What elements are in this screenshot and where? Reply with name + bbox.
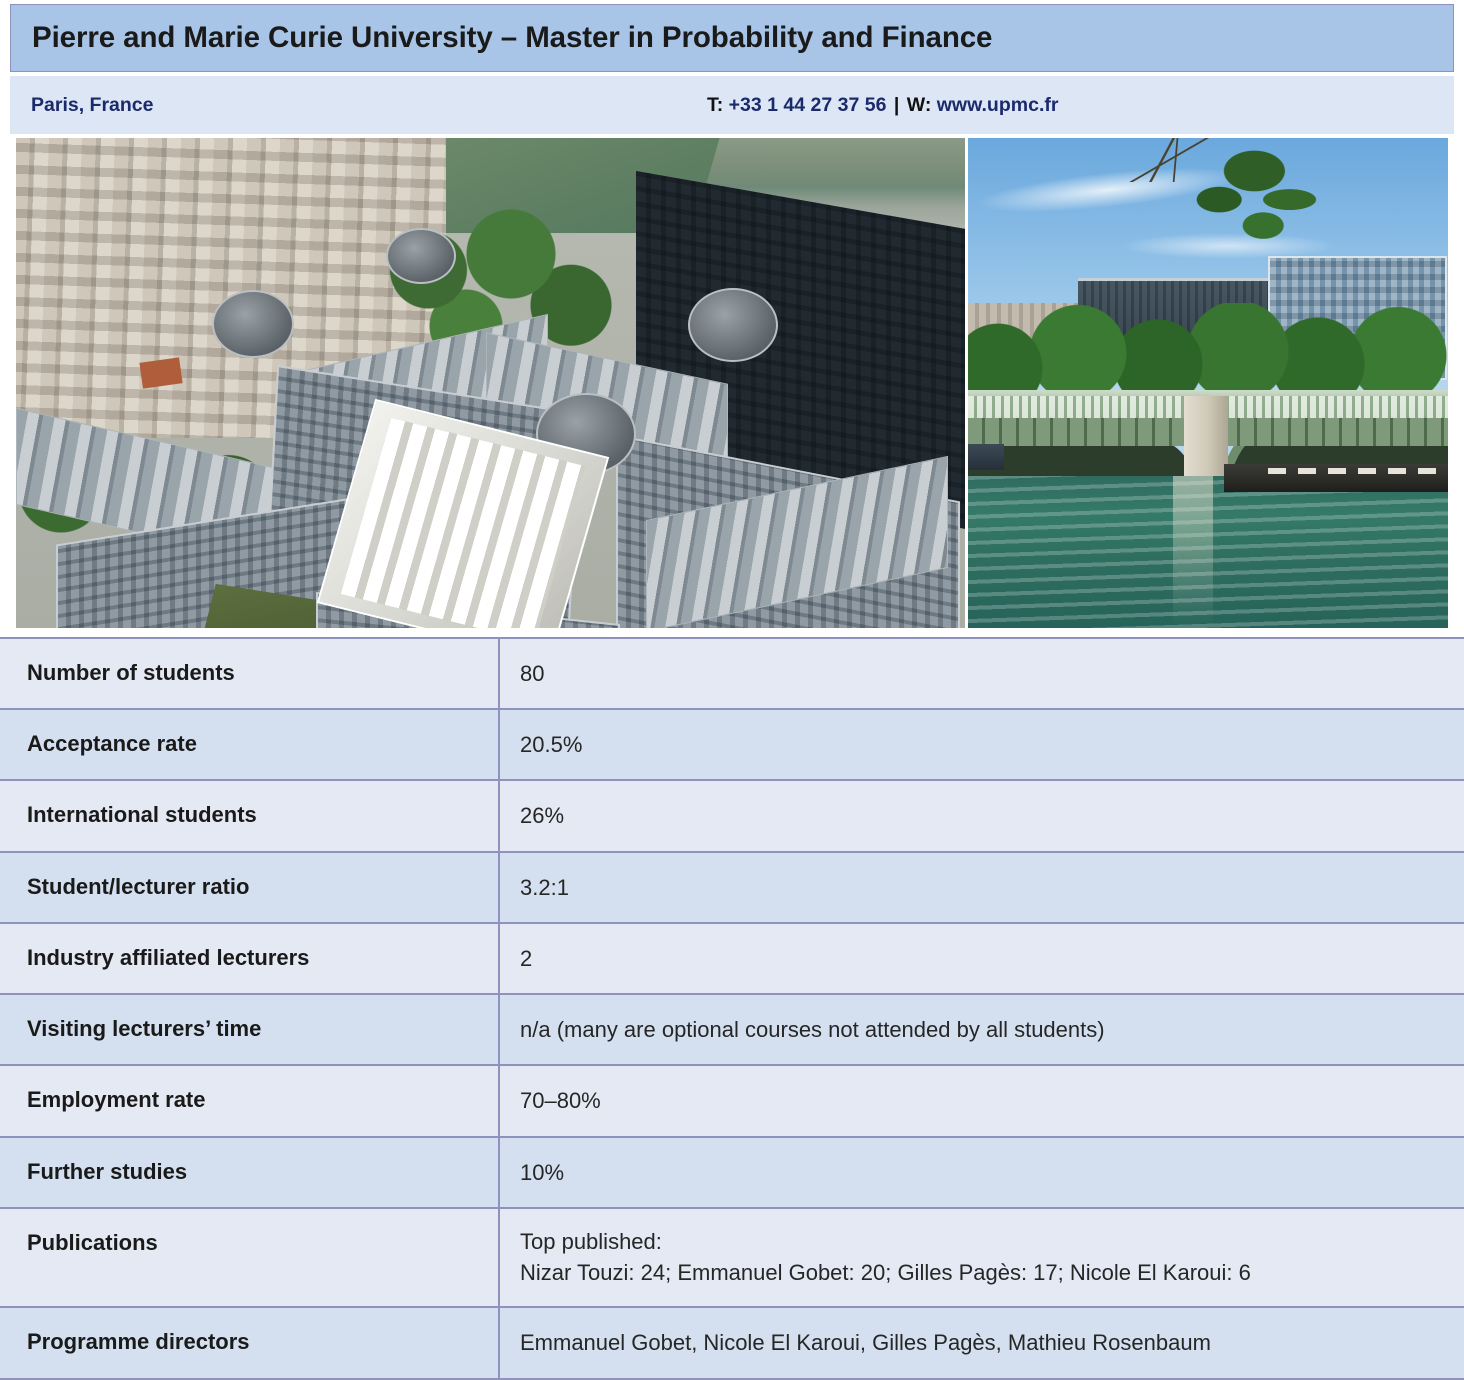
rooftop-cylinder	[688, 288, 778, 362]
table-row: Employment rate 70–80%	[0, 1064, 1464, 1135]
row-value: 80	[500, 639, 1464, 708]
page-title: Pierre and Marie Curie University – Mast…	[11, 21, 992, 55]
table-row: Visiting lecturers’ time n/a (many are o…	[0, 993, 1464, 1064]
contact-separator: |	[892, 94, 901, 116]
row-label: Student/lecturer ratio	[0, 853, 500, 922]
table-row: Number of students 80	[0, 637, 1464, 708]
red-roof-icon	[139, 357, 182, 388]
row-value: 2	[500, 924, 1464, 993]
row-label: Industry affiliated lecturers	[0, 924, 500, 993]
row-label: Visiting lecturers’ time	[0, 995, 500, 1064]
row-value: 26%	[500, 781, 1464, 850]
row-label: Further studies	[0, 1138, 500, 1207]
aerial-photo-art	[16, 138, 965, 628]
location-text: Paris, France	[31, 94, 153, 117]
row-label: Programme directors	[0, 1308, 500, 1377]
row-label: Employment rate	[0, 1066, 500, 1135]
website-link[interactable]: www.upmc.fr	[937, 94, 1059, 116]
website-label: W:	[907, 94, 932, 116]
row-label: Acceptance rate	[0, 710, 500, 779]
row-value: 3.2:1	[500, 853, 1464, 922]
table-row: International students 26%	[0, 779, 1464, 850]
title-bar: Pierre and Marie Curie University – Mast…	[10, 4, 1454, 72]
table-row: Further studies 10%	[0, 1136, 1464, 1207]
row-value: 10%	[500, 1138, 1464, 1207]
contact-info: T: +33 1 44 27 37 56 | W: www.upmc.fr	[707, 94, 1058, 117]
small-boat	[968, 444, 1004, 470]
barge-deck-markings	[1268, 468, 1448, 474]
subheader-bar: Paris, France T: +33 1 44 27 37 56 | W: …	[10, 76, 1454, 134]
rooftop-units	[341, 418, 585, 628]
water-reflection	[1173, 476, 1213, 626]
seine-bridge-photo	[968, 138, 1448, 628]
row-value: n/a (many are optional courses not atten…	[500, 995, 1464, 1064]
rooftop-cylinder	[386, 228, 456, 284]
institution-data-table: Number of students 80 Acceptance rate 20…	[0, 637, 1464, 1380]
institution-profile-page: Pierre and Marie Curie University – Mast…	[0, 0, 1464, 1358]
rooftop-cylinder	[212, 290, 294, 358]
row-value: Top published: Nizar Touzi: 24; Emmanuel…	[500, 1209, 1464, 1306]
table-row: Industry affiliated lecturers 2	[0, 922, 1464, 993]
table-row: Programme directors Emmanuel Gobet, Nico…	[0, 1306, 1464, 1379]
bridge-pier	[1184, 396, 1228, 486]
table-row: Publications Top published: Nizar Touzi:…	[0, 1207, 1464, 1306]
row-value: Emmanuel Gobet, Nicole El Karoui, Gilles…	[500, 1308, 1464, 1377]
table-row: Acceptance rate 20.5%	[0, 708, 1464, 779]
row-label: Number of students	[0, 639, 500, 708]
row-label: International students	[0, 781, 500, 850]
row-value: 20.5%	[500, 710, 1464, 779]
row-value: 70–80%	[500, 1066, 1464, 1135]
seine-photo-art	[968, 138, 1448, 628]
foreground-branch	[1118, 138, 1338, 262]
phone-number: +33 1 44 27 37 56	[729, 94, 887, 116]
phone-label: T:	[707, 94, 723, 116]
photo-strip	[16, 138, 1448, 628]
table-row: Student/lecturer ratio 3.2:1	[0, 851, 1464, 922]
row-label: Publications	[0, 1209, 500, 1306]
aerial-campus-photo	[16, 138, 965, 628]
